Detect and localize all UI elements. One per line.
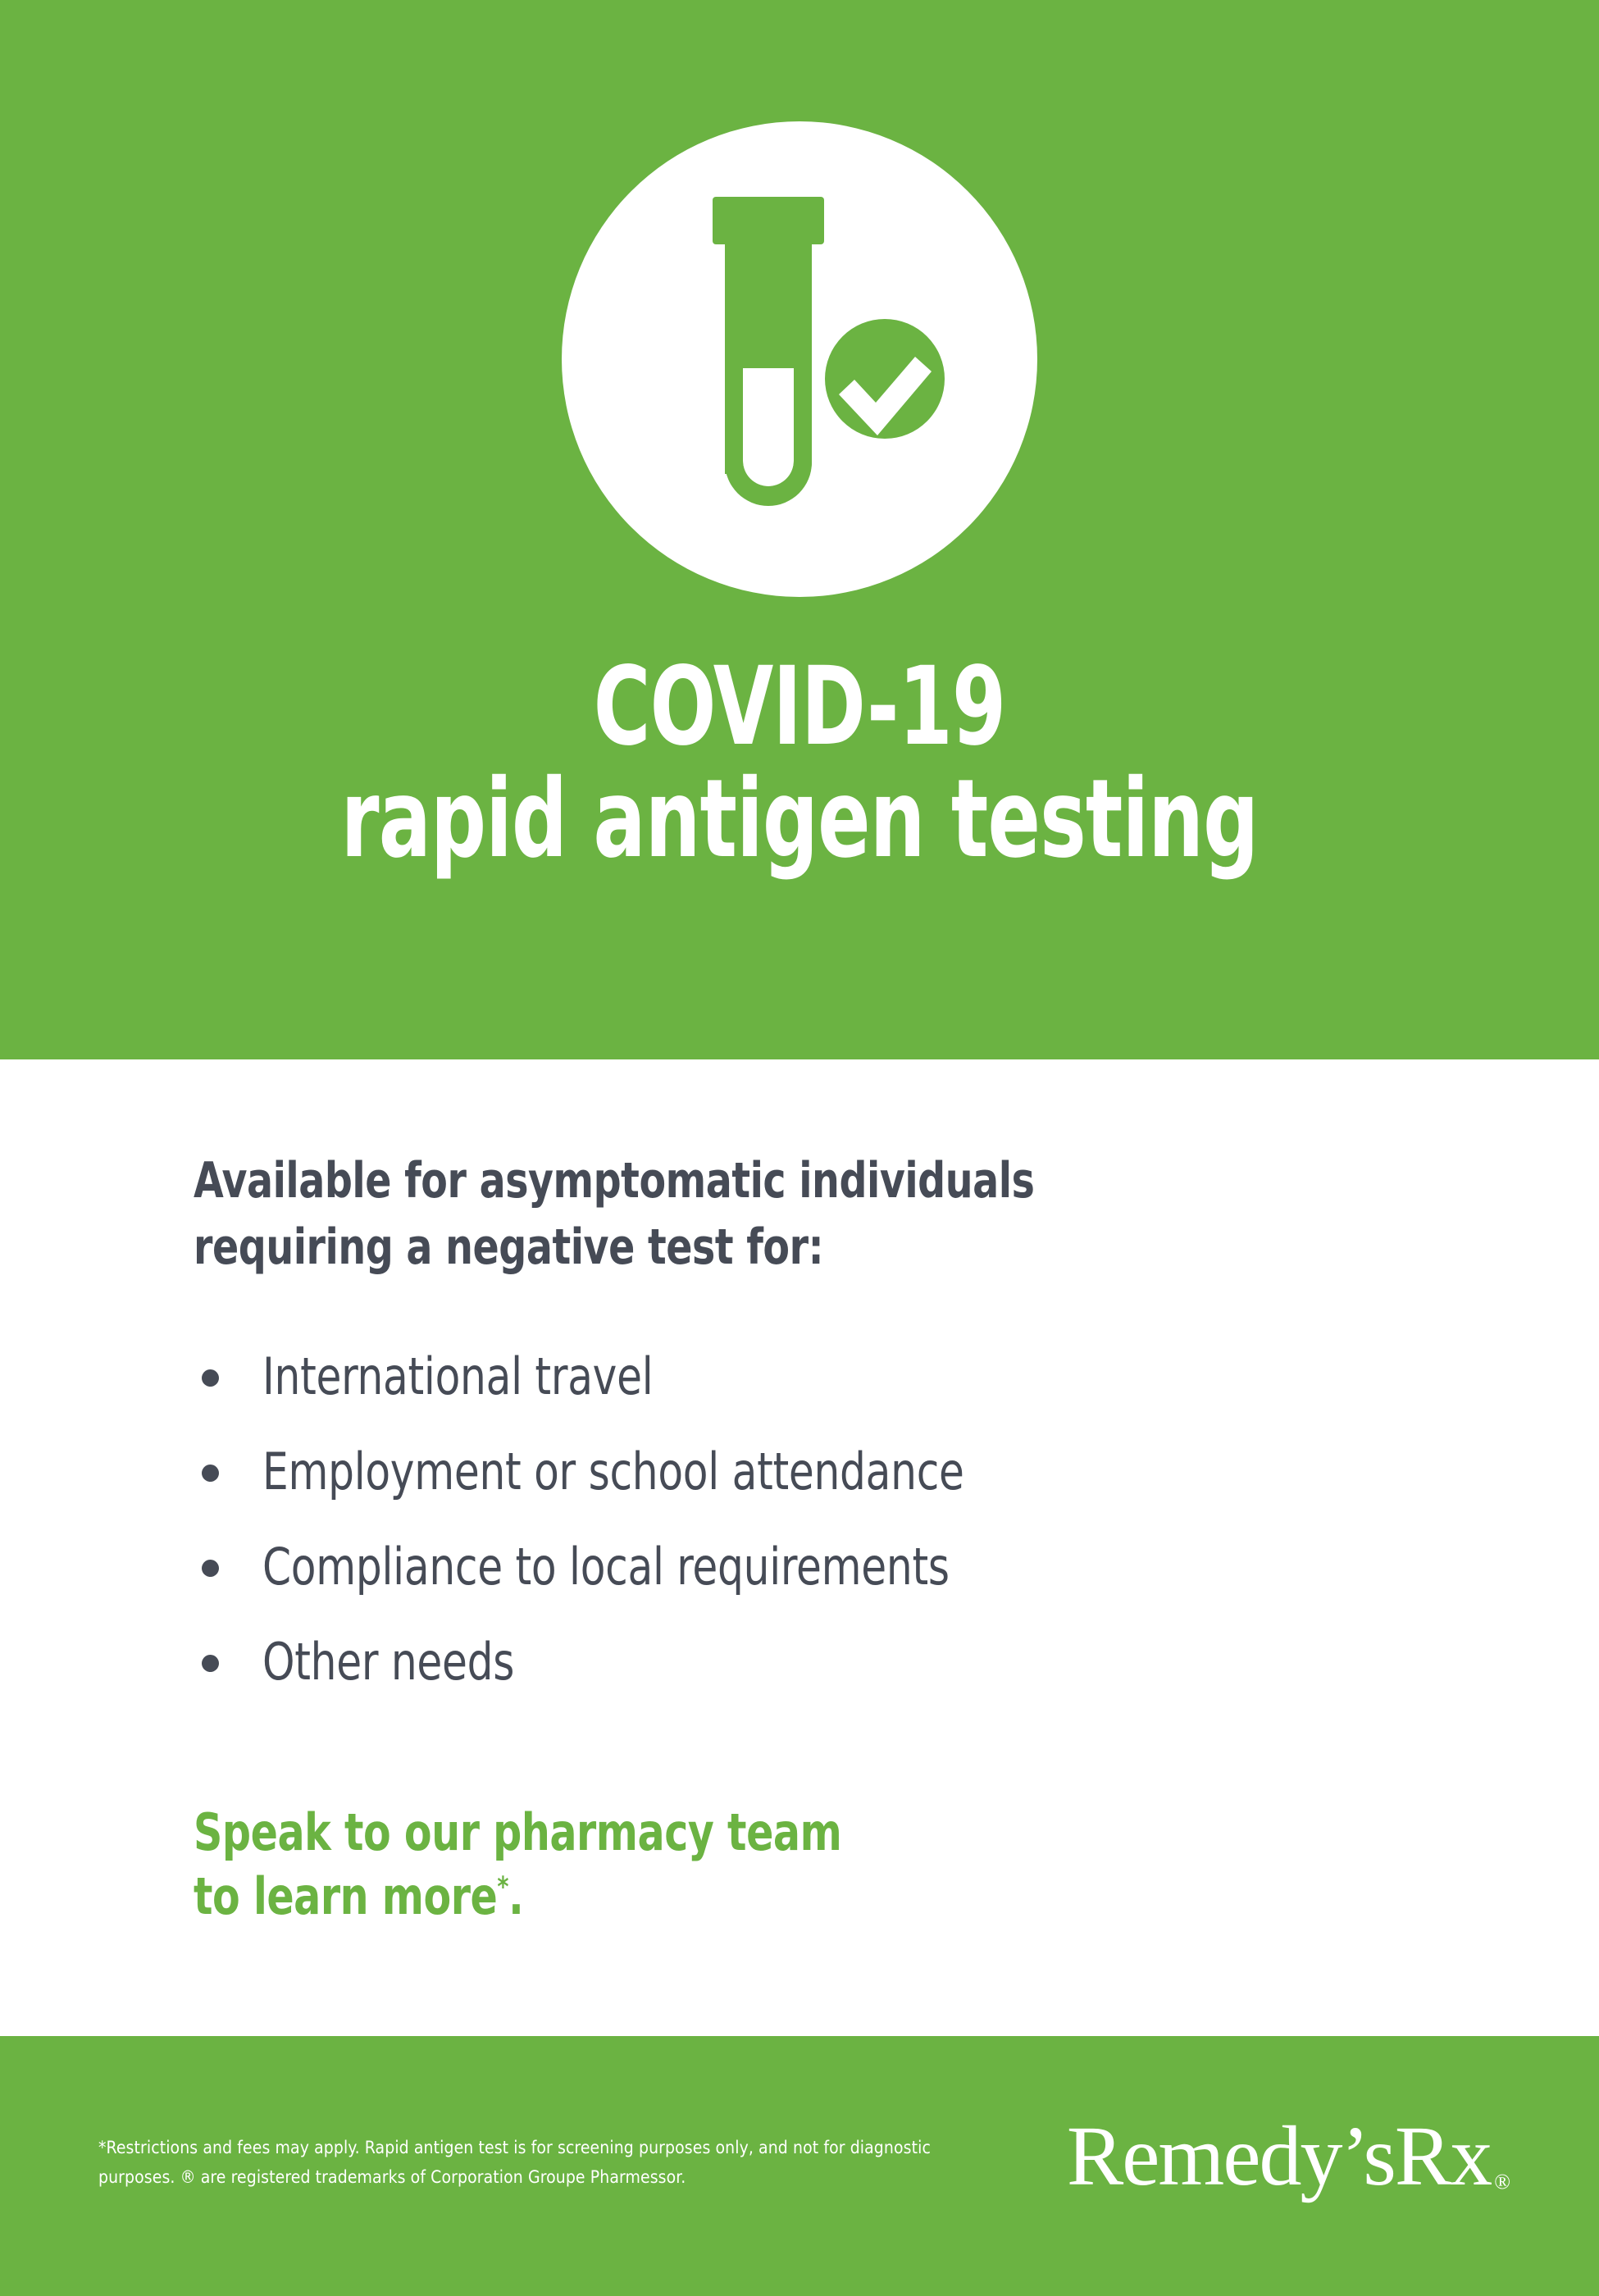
cta-line-2-text: to learn more: [194, 1866, 497, 1926]
list-item: Compliance to local requirements: [194, 1537, 1506, 1632]
test-tube-check-icon: [562, 121, 1037, 597]
body-section: Available for asymptomatic individuals r…: [0, 1059, 1599, 2036]
title-line-covid: COVID-19: [160, 656, 1439, 758]
list-item: Employment or school attendance: [194, 1442, 1506, 1537]
logo-wordmark: Remedy’sRx: [1067, 2114, 1491, 2199]
list-item-label: International travel: [262, 1346, 653, 1407]
lede-paragraph: Available for asymptomatic individuals r…: [194, 1148, 1319, 1281]
bullet-dot-icon: [202, 1465, 219, 1482]
list-item-label: Other needs: [262, 1632, 514, 1692]
registered-trademark-icon: ®: [1491, 2171, 1510, 2199]
cta-line-2: to learn more*.: [194, 1865, 1276, 1929]
bullet-dot-icon: [202, 1655, 219, 1672]
title-line-subject: rapid antigen testing: [160, 758, 1439, 881]
eligibility-list: International travel Employment or schoo…: [194, 1346, 1506, 1727]
list-item-label: Employment or school attendance: [262, 1442, 964, 1502]
lede-line-2: requiring a negative test for:: [194, 1214, 1319, 1281]
list-item-label: Compliance to local requirements: [262, 1537, 950, 1597]
list-item: International travel: [194, 1346, 1506, 1442]
poster-root: COVID-19 rapid antigen testing Available…: [0, 0, 1599, 2296]
bullet-dot-icon: [202, 1369, 219, 1387]
cta-period: .: [508, 1866, 523, 1926]
cta-line-1: Speak to our pharmacy team: [194, 1801, 1276, 1865]
cta-asterisk: *: [497, 1870, 508, 1903]
header-band: COVID-19 rapid antigen testing: [0, 0, 1599, 1059]
disclaimer-text: *Restrictions and fees may apply. Rapid …: [98, 2133, 935, 2192]
disclaimer-line-1: *Restrictions and fees may apply. Rapid …: [98, 2133, 935, 2162]
lede-line-1: Available for asymptomatic individuals: [194, 1148, 1319, 1214]
remedysrx-logo: Remedy’sRx ®: [1067, 2114, 1510, 2199]
disclaimer-line-2: purposes. ® are registered trademarks of…: [98, 2162, 935, 2192]
poster-title: COVID-19 rapid antigen testing: [0, 656, 1599, 881]
list-item: Other needs: [194, 1632, 1506, 1727]
bullet-dot-icon: [202, 1560, 219, 1577]
call-to-action: Speak to our pharmacy team to learn more…: [194, 1801, 1276, 1929]
